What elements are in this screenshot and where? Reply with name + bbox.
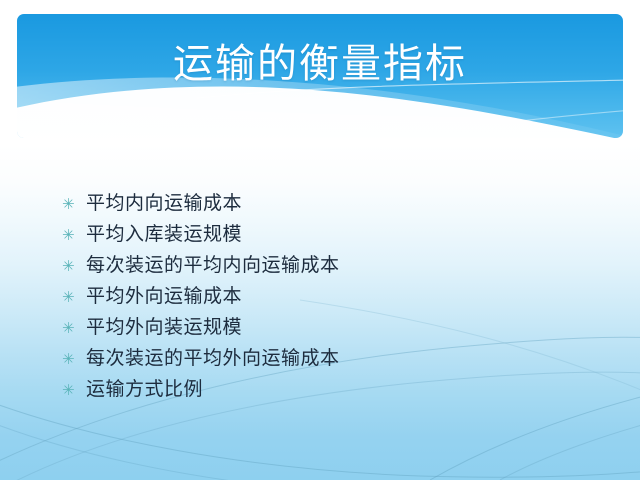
asterisk-bullet-icon: ✳ — [62, 375, 86, 406]
asterisk-bullet-icon: ✳ — [62, 189, 86, 220]
list-item-label: 平均内向运输成本 — [86, 188, 242, 219]
list-item[interactable]: ✳ 运输方式比例 — [62, 374, 582, 405]
page-title: 运输的衡量指标 — [17, 40, 623, 88]
list-item-label: 每次装运的平均内向运输成本 — [86, 250, 340, 281]
list-item[interactable]: ✳ 平均外向装运规模 — [62, 312, 582, 343]
list-item-label: 运输方式比例 — [86, 374, 203, 405]
presentation-slide: 运输的衡量指标 ✳ 平均内向运输成本 ✳ 平均入库装运规模 ✳ 每次装运的平均内… — [0, 0, 640, 480]
asterisk-bullet-icon: ✳ — [62, 344, 86, 375]
title-banner: 运输的衡量指标 — [17, 14, 623, 138]
list-item-label: 平均外向运输成本 — [86, 281, 242, 312]
list-item-label: 平均入库装运规模 — [86, 219, 242, 250]
asterisk-bullet-icon: ✳ — [62, 251, 86, 282]
list-item[interactable]: ✳ 每次装运的平均外向运输成本 — [62, 343, 582, 374]
list-item[interactable]: ✳ 每次装运的平均内向运输成本 — [62, 250, 582, 281]
list-item[interactable]: ✳ 平均入库装运规模 — [62, 219, 582, 250]
list-item[interactable]: ✳ 平均外向运输成本 — [62, 281, 582, 312]
list-item-label: 每次装运的平均外向运输成本 — [86, 343, 340, 374]
list-item-label: 平均外向装运规模 — [86, 312, 242, 343]
asterisk-bullet-icon: ✳ — [62, 282, 86, 313]
list-item[interactable]: ✳ 平均内向运输成本 — [62, 188, 582, 219]
bullet-list: ✳ 平均内向运输成本 ✳ 平均入库装运规模 ✳ 每次装运的平均内向运输成本 ✳ … — [62, 188, 582, 405]
asterisk-bullet-icon: ✳ — [62, 220, 86, 251]
asterisk-bullet-icon: ✳ — [62, 313, 86, 344]
